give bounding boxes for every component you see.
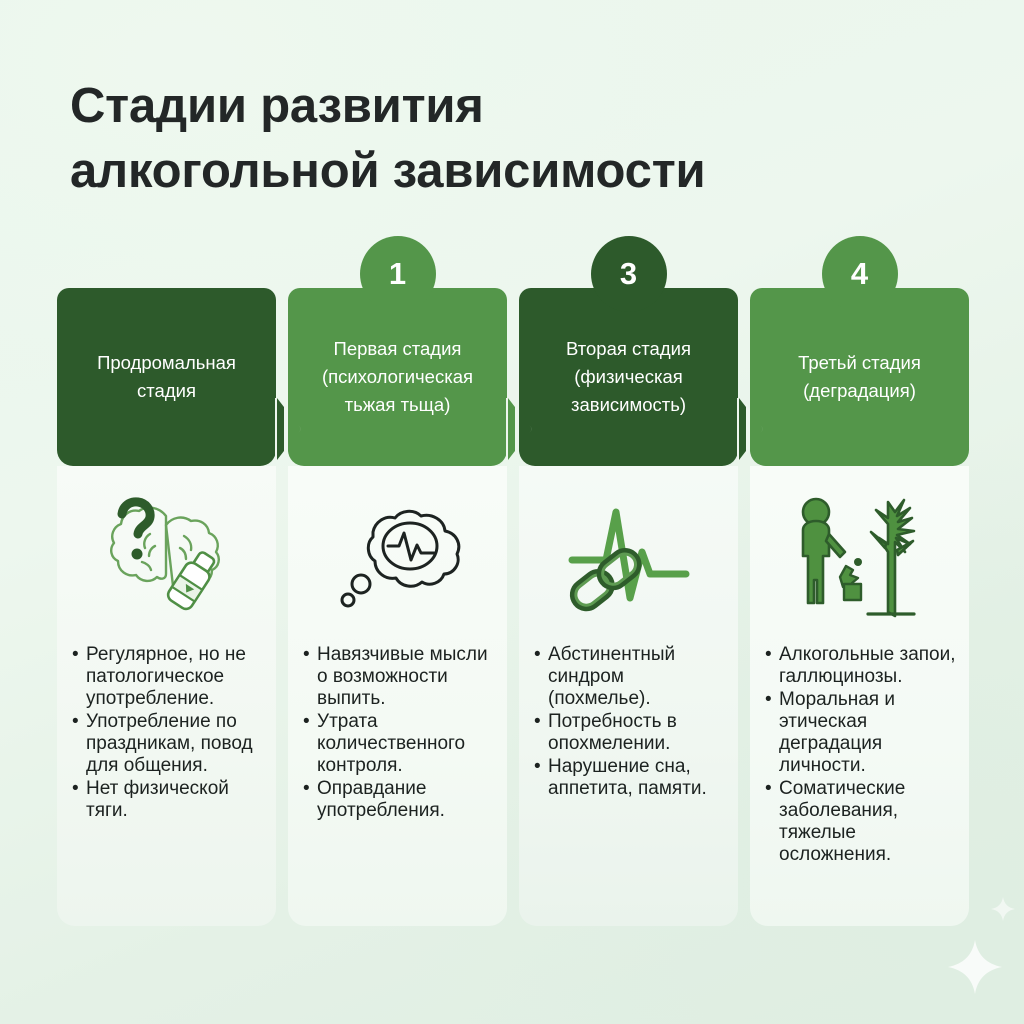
stage-card-1: Навязчивые мысли о возможности выпить. У… — [288, 466, 507, 926]
list-item: Потребность в опохмелении. — [533, 711, 730, 755]
stage-badge-label-3: 4 — [851, 256, 868, 292]
stage-card-2: Абстинентный синдром (похмелье). Потребн… — [519, 466, 738, 926]
list-item: Регулярное, но не патологическое употреб… — [71, 644, 268, 710]
stages-flow: Продромальная стадия — [57, 236, 969, 936]
stage-column-2: 3 Вторая стадия (физическая зависимость) — [519, 236, 738, 926]
stage-header-label-3: Третьй стадия (деградация) — [766, 349, 953, 405]
list-item: Навязчивые мысли о возможности выпить. — [302, 644, 499, 710]
sparkle-star-small-icon — [990, 896, 1016, 922]
flow-arrow-icon — [506, 398, 532, 460]
stage-badge-label-1: 1 — [389, 256, 406, 292]
person-bare-tree-bottle-icon — [750, 484, 969, 624]
stage-header-1[interactable]: Первая стадия (психологическая тьжая тьщ… — [288, 288, 507, 466]
stage-header-3[interactable]: Третьй стадия (деградация) — [750, 288, 969, 466]
page-title-line-2: алкогольной зависимости — [70, 139, 930, 204]
list-item: Употребление по праздникам, повод для об… — [71, 711, 268, 777]
stage-bullets-1: Навязчивые мысли о возможности выпить. У… — [302, 644, 499, 823]
flow-arrow-icon — [737, 398, 763, 460]
stage-badge-1: 1 — [360, 236, 436, 312]
stage-badge-3: 4 — [822, 236, 898, 312]
stage-badge-2: 3 — [591, 236, 667, 312]
list-item: Нет физической тяги. — [71, 778, 268, 822]
list-item: Нарушение сна, аппетита, памяти. — [533, 756, 730, 800]
list-item: Оправдание употребления. — [302, 778, 499, 822]
stage-column-3: 4 Третьй стадия (деградация) — [750, 236, 969, 926]
stage-bullets-0: Регулярное, но не патологическое употреб… — [71, 644, 268, 823]
page-title: Стадии развития алкогольной зависимости — [70, 74, 930, 203]
stage-header-label-1: Первая стадия (психологическая тьжая тьщ… — [304, 335, 491, 419]
stage-header-label-0: Продромальная стадия — [73, 349, 260, 405]
flow-arrow-icon — [275, 398, 301, 460]
infographic-poster: Стадии развития алкогольной зависимости … — [0, 0, 1024, 1024]
sparkle-star-icon — [946, 938, 1004, 996]
stage-header-label-2: Вторая стадия (физическая зависимость) — [535, 335, 722, 419]
stage-bullets-2: Абстинентный синдром (похмелье). Потребн… — [533, 644, 730, 801]
brain-question-bottle-icon — [57, 484, 276, 624]
stage-badge-label-2: 3 — [620, 256, 637, 292]
stage-header-0[interactable]: Продромальная стадия — [57, 288, 276, 466]
stage-card-3: Алкогольные запои, галлюцинозы. Моральна… — [750, 466, 969, 926]
list-item: Соматические заболевания, тяжелые осложн… — [764, 778, 961, 866]
stage-card-0: Регулярное, но не патологическое употреб… — [57, 466, 276, 926]
chain-pulse-icon — [519, 484, 738, 624]
stage-column-1: 1 Первая стадия (психологическая тьжая т… — [288, 236, 507, 926]
list-item: Алкогольные запои, галлюцинозы. — [764, 644, 961, 688]
stage-header-2[interactable]: Вторая стадия (физическая зависимость) — [519, 288, 738, 466]
page-title-line-1: Стадии развития — [70, 74, 930, 139]
list-item: Абстинентный синдром (похмелье). — [533, 644, 730, 710]
list-item: Утрата количественного контроля. — [302, 711, 499, 777]
stage-column-0: Продромальная стадия — [57, 236, 276, 926]
thought-bubble-pulse-icon — [288, 484, 507, 624]
stage-bullets-3: Алкогольные запои, галлюцинозы. Моральна… — [764, 644, 961, 867]
list-item: Моральная и этическая деградация личност… — [764, 689, 961, 777]
